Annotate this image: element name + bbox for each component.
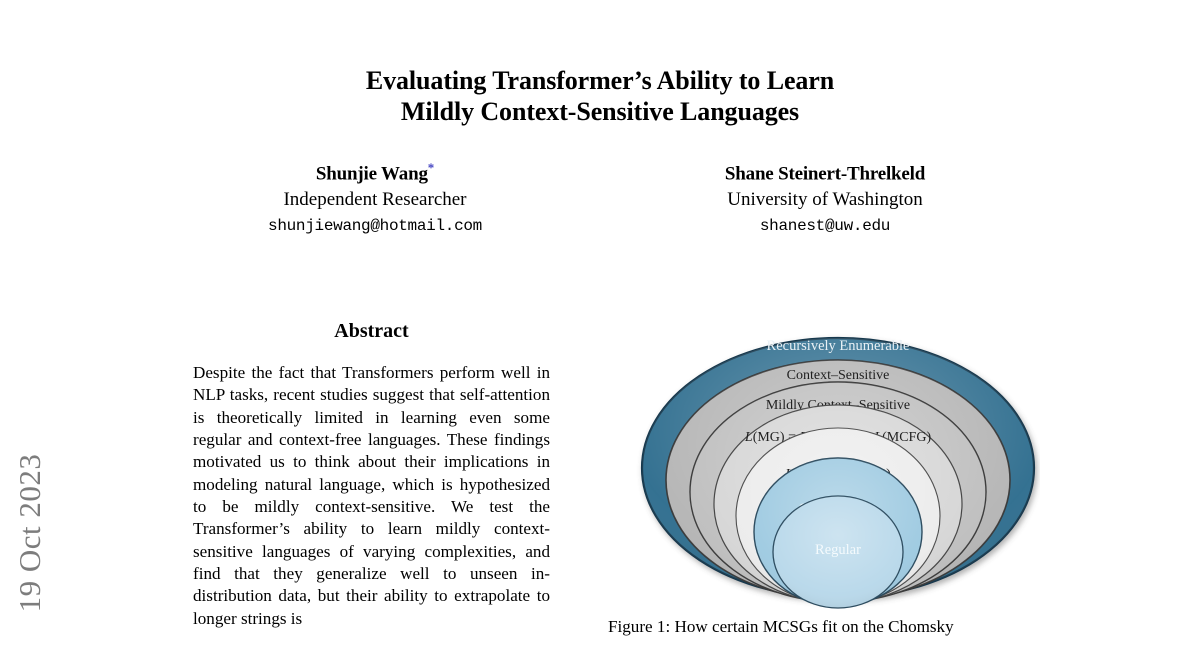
author-name-2-text: Shane Steinert-Threlkeld [725, 163, 925, 184]
abstract-body: Despite the fact that Transformers perfo… [193, 362, 550, 630]
author-affiliation-1: Independent Researcher [150, 186, 600, 213]
author-block: Shunjie Wang* Independent Researcher shu… [150, 155, 1050, 239]
ring-label-regular: Regular [815, 542, 861, 558]
author-email-2[interactable]: shanest@uw.edu [600, 213, 1050, 239]
page-title-line-1: Evaluating Transformer’s Ability to Lear… [150, 65, 1050, 96]
abstract-section: Abstract Despite the fact that Transform… [193, 320, 550, 630]
chomsky-hierarchy-diagram: Recursively Enumerable Context–Sensitive… [636, 328, 1040, 618]
figure-caption: Figure 1: How certain MCSGs fit on the C… [608, 616, 1000, 638]
formula-L-1: L [744, 430, 753, 445]
page-title-line-2: Mildly Context-Sensitive Languages [150, 96, 1050, 127]
author-entry-2: Shane Steinert-Threlkeld University of W… [600, 155, 1050, 239]
author-name-2: Shane Steinert-Threlkeld [600, 155, 1050, 186]
author-footnote-marker-1[interactable]: * [428, 160, 434, 175]
arxiv-date-text: 19 Oct 2023 [12, 413, 48, 653]
arxiv-date-stamp: 19 Oct 2023 [0, 405, 60, 645]
ring-label-context-sensitive: Context–Sensitive [787, 368, 890, 383]
abstract-heading: Abstract [193, 320, 550, 343]
author-name-1: Shunjie Wang* [150, 155, 600, 186]
ring-regular: Regular [773, 496, 903, 608]
author-email-1[interactable]: shunjiewang@hotmail.com [150, 213, 600, 239]
figure-1: Recursively Enumerable Context–Sensitive… [636, 328, 1040, 618]
page-title: Evaluating Transformer’s Ability to Lear… [150, 65, 1050, 127]
author-entry-1: Shunjie Wang* Independent Researcher shu… [150, 155, 600, 239]
author-name-1-text: Shunjie Wang [316, 163, 428, 184]
author-affiliation-2: University of Washington [600, 186, 1050, 213]
ring-label-recursively-enumerable: Recursively Enumerable [767, 338, 910, 354]
